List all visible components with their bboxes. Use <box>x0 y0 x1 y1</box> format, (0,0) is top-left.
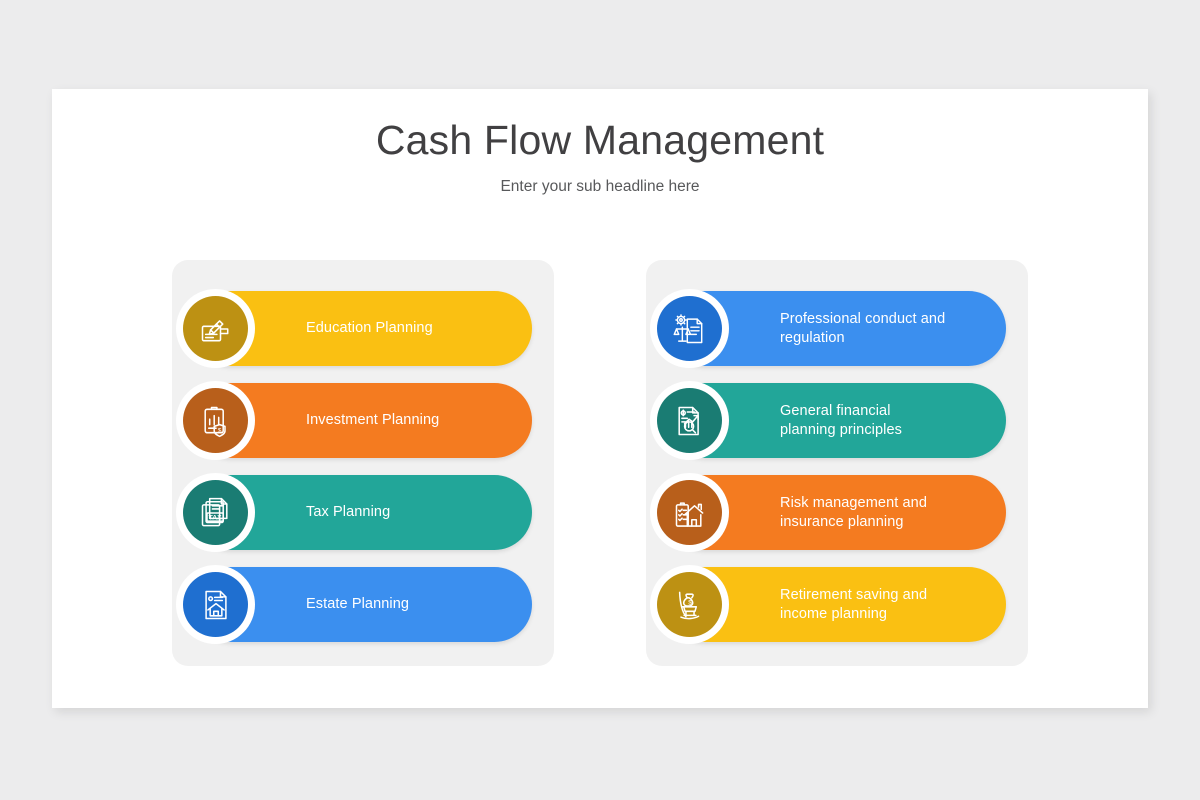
page-subtitle: Enter your sub headline here <box>52 178 1148 196</box>
hand-writing-document-icon <box>183 296 248 361</box>
svg-text:$: $ <box>217 427 221 434</box>
pill-label: Retirement saving and income planning <box>780 586 927 623</box>
pill-left-4[interactable]: Estate Planning <box>194 567 532 642</box>
house-checklist-icon <box>657 480 722 545</box>
pill-left-3[interactable]: TAX Tax Planning <box>194 475 532 550</box>
left-panel: Education Planning $ Investment Planning… <box>172 260 554 666</box>
right-panel: Professional conduct and regulation Gene… <box>646 260 1028 666</box>
slide-canvas: Cash Flow Management Enter your sub head… <box>52 89 1148 708</box>
pill-label: Education Planning <box>306 319 433 338</box>
tax-documents-icon: TAX <box>183 480 248 545</box>
pill-icon-badge: $ <box>176 381 255 460</box>
pill-right-2[interactable]: General financial planning principles <box>668 383 1006 458</box>
left-panel-items: Education Planning $ Investment Planning… <box>194 291 532 642</box>
pill-label: Professional conduct and regulation <box>780 310 945 347</box>
clipboard-bar-chart-shield-icon: $ <box>183 388 248 453</box>
pill-icon-badge <box>176 565 255 644</box>
pill-left-1[interactable]: Education Planning <box>194 291 532 366</box>
pill-label: Risk management and insurance planning <box>780 494 927 531</box>
page-title: Cash Flow Management <box>52 116 1148 165</box>
house-document-icon <box>183 572 248 637</box>
pill-label: Estate Planning <box>306 595 409 614</box>
pill-right-4[interactable]: $ Retirement saving and income planning <box>668 567 1006 642</box>
growth-chart-magnifier-document-icon <box>657 388 722 453</box>
pill-icon-badge: TAX <box>176 473 255 552</box>
pill-label: General financial planning principles <box>780 402 902 439</box>
svg-text:$: $ <box>688 599 692 606</box>
pill-right-3[interactable]: Risk management and insurance planning <box>668 475 1006 550</box>
pill-label: Tax Planning <box>306 503 390 522</box>
pill-right-1[interactable]: Professional conduct and regulation <box>668 291 1006 366</box>
pill-icon-badge <box>650 381 729 460</box>
right-panel-items: Professional conduct and regulation Gene… <box>668 291 1006 642</box>
pill-icon-badge <box>650 473 729 552</box>
pill-label: Investment Planning <box>306 411 439 430</box>
pill-icon-badge <box>650 289 729 368</box>
content-columns: Education Planning $ Investment Planning… <box>52 260 1148 666</box>
pill-icon-badge: $ <box>650 565 729 644</box>
pill-left-2[interactable]: $ Investment Planning <box>194 383 532 458</box>
svg-text:TAX: TAX <box>208 514 221 521</box>
rocking-chair-money-bag-icon: $ <box>657 572 722 637</box>
slide-headings: Cash Flow Management Enter your sub head… <box>52 116 1148 196</box>
pill-icon-badge <box>176 289 255 368</box>
scales-gear-document-icon <box>657 296 722 361</box>
